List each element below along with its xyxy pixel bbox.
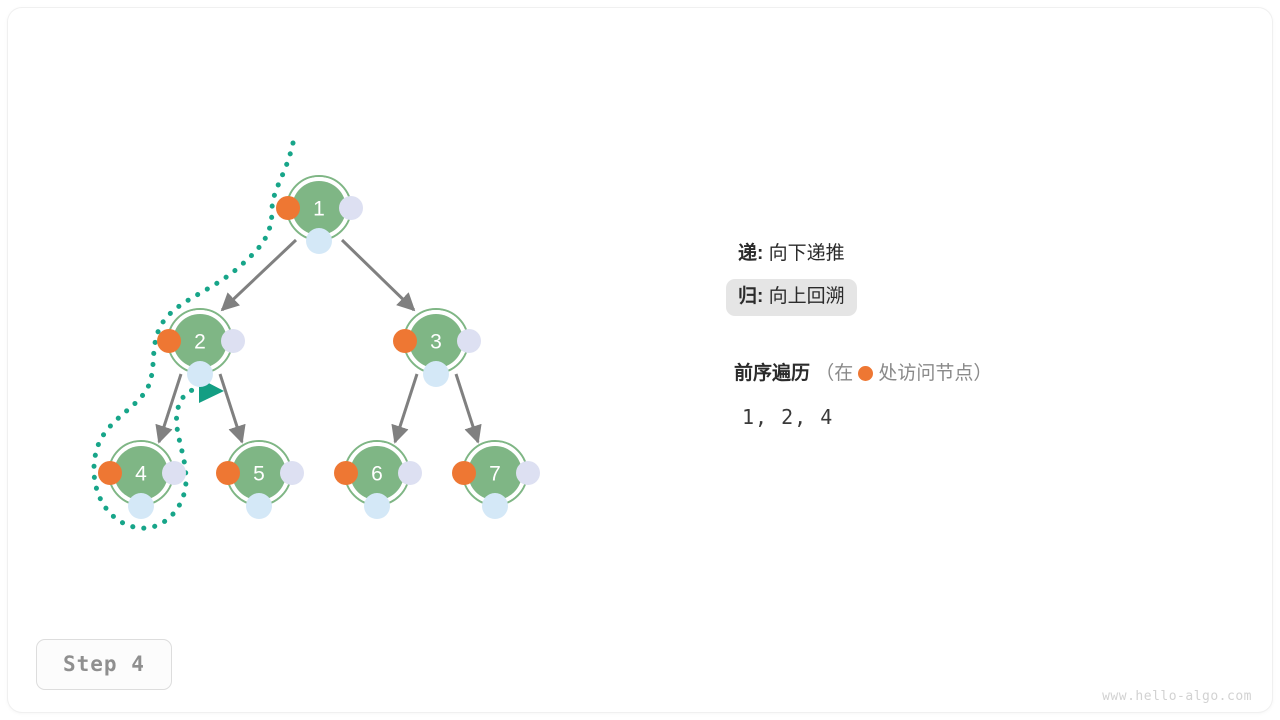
traversal-paren-open: （在	[815, 363, 853, 384]
traversal-info: 前序遍历 （在处访问节点） 1, 2, 4	[734, 364, 1254, 429]
traversal-result: 1, 2, 4	[742, 405, 1254, 429]
traversal-title: 前序遍历	[734, 363, 810, 384]
watermark: www.hello-algo.com	[1102, 689, 1252, 704]
step-badge: Step 4	[36, 639, 172, 690]
legend-line-recurse: 递: 向下递推	[726, 236, 857, 273]
screenshot-canvas: 1 2 3 4	[0, 0, 1280, 720]
legend-row-recurse: 递: 向下递推	[726, 236, 1246, 273]
legend-value-return: 向上回溯	[769, 286, 845, 307]
legend-value-recurse: 向下递推	[769, 243, 845, 264]
legend-key-recurse: 递:	[738, 243, 763, 264]
content-frame	[8, 8, 1272, 712]
traversal-paren-close: 处访问节点）	[878, 363, 992, 384]
legend-row-return: 归: 向上回溯	[726, 279, 1246, 316]
legend-key-return: 归:	[738, 286, 763, 307]
legend-line-return: 归: 向上回溯	[726, 279, 857, 316]
recursion-legend: 递: 向下递推 归: 向上回溯	[726, 236, 1246, 316]
traversal-heading: 前序遍历 （在处访问节点）	[734, 364, 1254, 383]
visited-node-dot-icon	[858, 366, 873, 381]
